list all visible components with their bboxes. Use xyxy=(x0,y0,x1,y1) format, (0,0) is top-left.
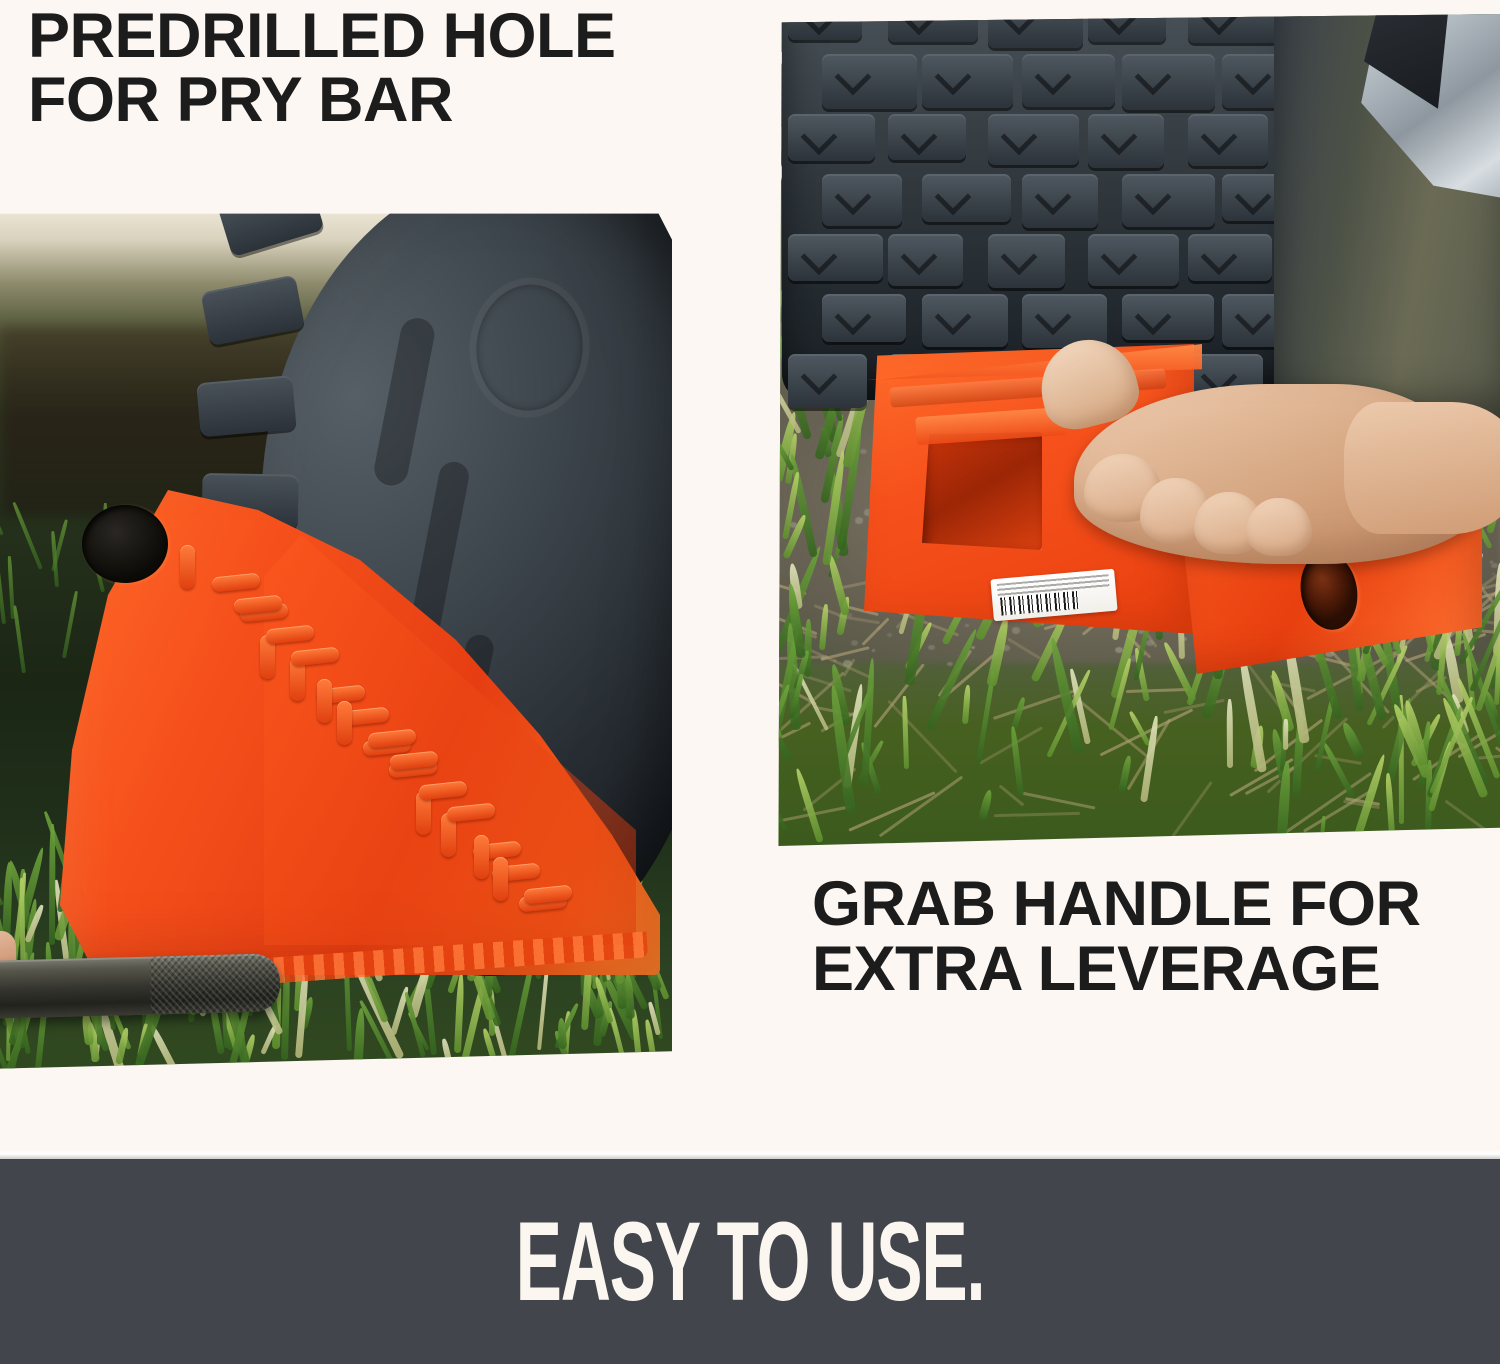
left-scene xyxy=(0,205,672,1073)
pry-bar-knurl xyxy=(149,953,280,1014)
banner-hairline xyxy=(0,1150,1500,1159)
headline-right-line2: EXTRA LEVERAGE xyxy=(812,934,1380,1004)
chock-ramp-face xyxy=(264,535,636,945)
photo-predrilled-hole xyxy=(0,205,672,1073)
banner-text: EASY TO USE. xyxy=(516,1206,985,1318)
tire-tread-lug xyxy=(196,375,296,437)
right-scene xyxy=(714,14,1500,846)
bottom-banner: EASY TO USE. xyxy=(0,1159,1500,1364)
predrilled-hole xyxy=(82,505,168,583)
tire-emboss-logo xyxy=(464,273,596,423)
headline-right: GRAB HANDLE FOR EXTRA LEVERAGE xyxy=(812,872,1472,1002)
headline-left-line1: PREDRILLED HOLE xyxy=(28,1,616,71)
hand-gripping-handle xyxy=(1014,366,1484,621)
infographic-page: PREDRILLED HOLE FOR PRY BAR xyxy=(0,0,1500,1364)
pry-bar xyxy=(0,953,281,1019)
knuckle xyxy=(1246,498,1312,556)
tire-groove xyxy=(371,315,437,488)
headline-right-line1: GRAB HANDLE FOR xyxy=(812,869,1420,939)
headline-left-line2: FOR PRY BAR xyxy=(28,68,648,132)
headline-left: PREDRILLED HOLE FOR PRY BAR xyxy=(28,4,648,133)
wrist xyxy=(1344,402,1500,534)
tire-tread-face xyxy=(782,14,1302,400)
photo-grab-handle xyxy=(714,14,1500,846)
